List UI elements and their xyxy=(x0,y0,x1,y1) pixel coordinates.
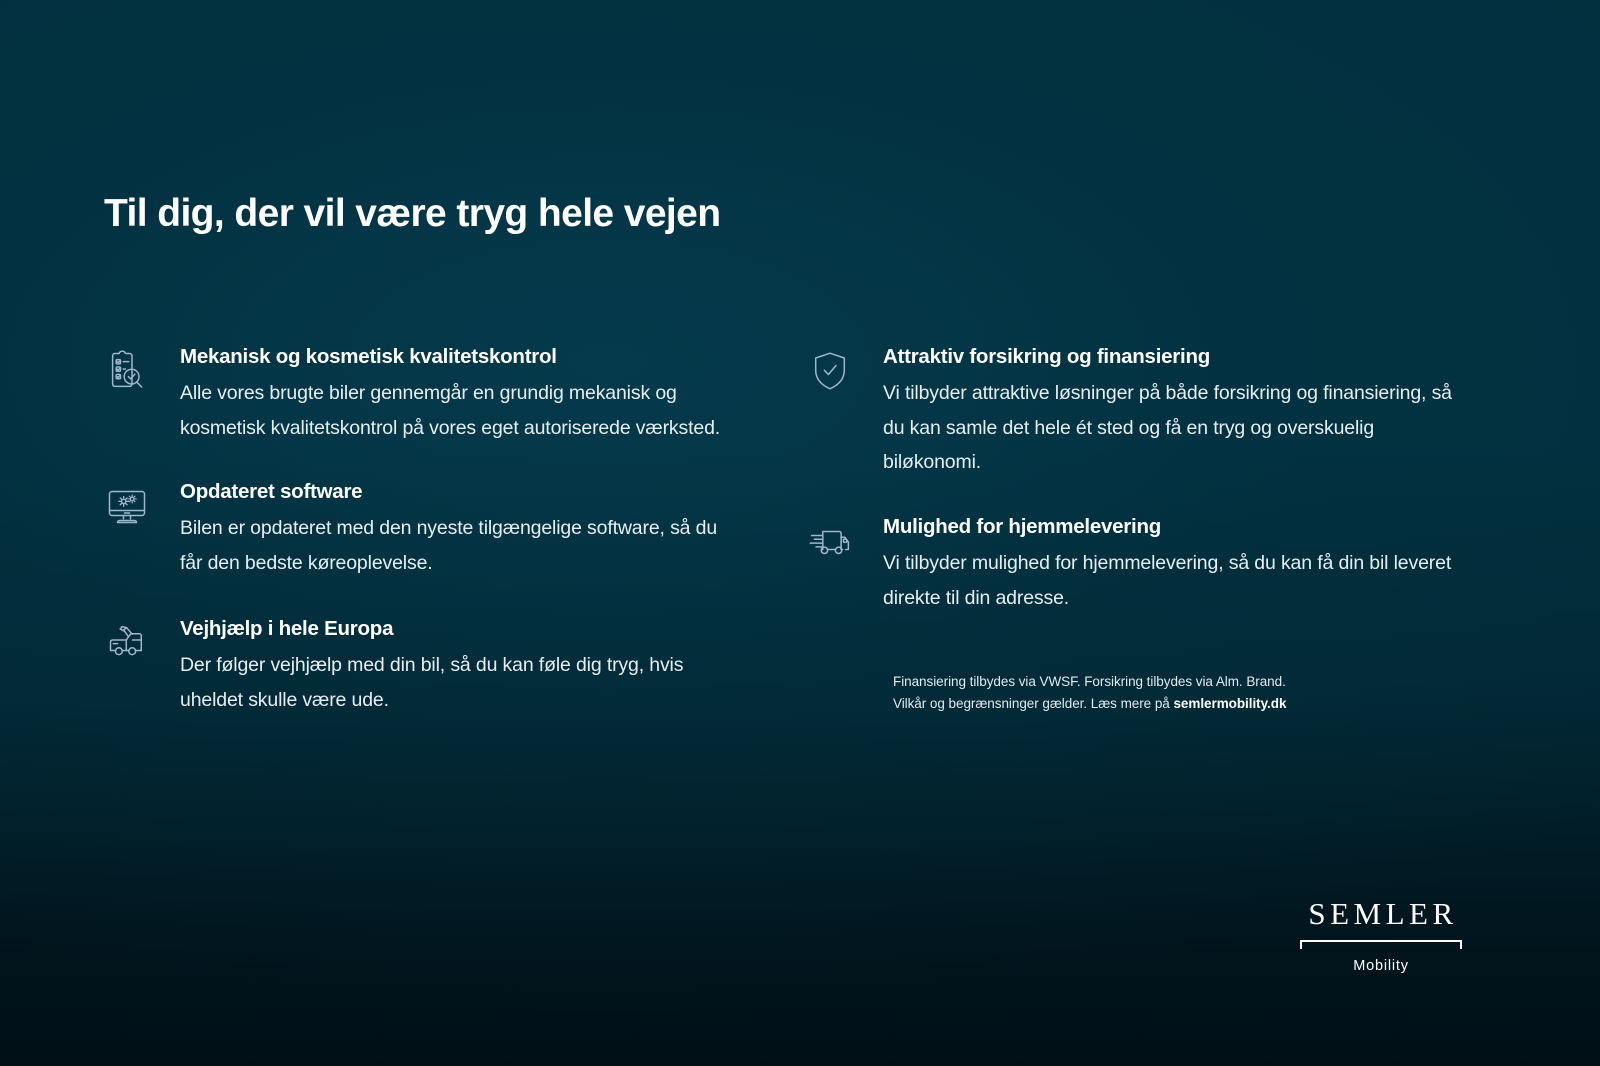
promo-banner: Til dig, der vil være tryg hele vejen xyxy=(0,0,1600,1066)
delivery-truck-icon xyxy=(803,514,857,568)
logo-divider-tick-right xyxy=(1460,940,1462,949)
feature-title: Opdateret software xyxy=(180,479,740,504)
clipboard-check-magnifier-icon xyxy=(100,344,154,398)
logo-divider-tick-left xyxy=(1300,940,1302,949)
feature-column-left: Mekanisk og kosmetisk kvalitetskontrol A… xyxy=(100,340,740,717)
logo-divider xyxy=(1300,940,1462,951)
feature-description: Vi tilbyder mulighed for hjemmelevering,… xyxy=(883,546,1463,615)
feature-title: Vejhjælp i hele Europa xyxy=(180,616,740,641)
feature-item: Attraktiv forsikring og finansiering Vi … xyxy=(803,340,1463,480)
feature-text: Mekanisk og kosmetisk kvalitetskontrol A… xyxy=(180,340,740,445)
feature-text: Vejhjælp i hele Europa Der følger vejhjæ… xyxy=(180,612,740,717)
disclaimer: Finansiering tilbydes via VWSF. Forsikri… xyxy=(893,671,1453,715)
page-title: Til dig, der vil være tryg hele vejen xyxy=(104,192,720,236)
feature-title: Mekanisk og kosmetisk kvalitetskontrol xyxy=(180,344,740,369)
monitor-gears-icon xyxy=(100,479,154,533)
feature-column-right: Attraktiv forsikring og finansiering Vi … xyxy=(803,340,1463,616)
logo-wordmark: SEMLER xyxy=(1300,898,1462,929)
feature-title: Mulighed for hjemmelevering xyxy=(883,514,1463,539)
feature-item: Opdateret software Bilen er opdateret me… xyxy=(100,475,740,580)
disclaimer-line-1: Finansiering tilbydes via VWSF. Forsikri… xyxy=(893,671,1453,693)
feature-text: Mulighed for hjemmelevering Vi tilbyder … xyxy=(883,510,1463,615)
feature-description: Bilen er opdateret med den nyeste tilgæn… xyxy=(180,511,740,580)
semler-mobility-logo: SEMLER Mobility xyxy=(1300,898,1462,974)
disclaimer-line-2-text: Vilkår og begrænsninger gælder. Læs mere… xyxy=(893,696,1173,711)
feature-item: Mulighed for hjemmelevering Vi tilbyder … xyxy=(803,510,1463,615)
feature-text: Opdateret software Bilen er opdateret me… xyxy=(180,475,740,580)
feature-text: Attraktiv forsikring og finansiering Vi … xyxy=(883,340,1463,480)
logo-subtitle: Mobility xyxy=(1300,958,1462,974)
feature-title: Attraktiv forsikring og finansiering xyxy=(883,344,1463,369)
feature-description: Alle vores brugte biler gennemgår en gru… xyxy=(180,376,740,445)
disclaimer-line-2: Vilkår og begrænsninger gælder. Læs mere… xyxy=(893,693,1453,715)
feature-description: Vi tilbyder attraktive løsninger på både… xyxy=(883,376,1463,480)
tow-truck-icon xyxy=(100,616,154,670)
feature-item: Vejhjælp i hele Europa Der følger vejhjæ… xyxy=(100,612,740,717)
shield-check-icon xyxy=(803,344,857,398)
semlermobility-link[interactable]: semlermobility.dk xyxy=(1173,696,1286,711)
logo-divider-bar xyxy=(1300,940,1462,942)
feature-description: Der følger vejhjælp med din bil, så du k… xyxy=(180,648,740,717)
feature-item: Mekanisk og kosmetisk kvalitetskontrol A… xyxy=(100,340,740,445)
